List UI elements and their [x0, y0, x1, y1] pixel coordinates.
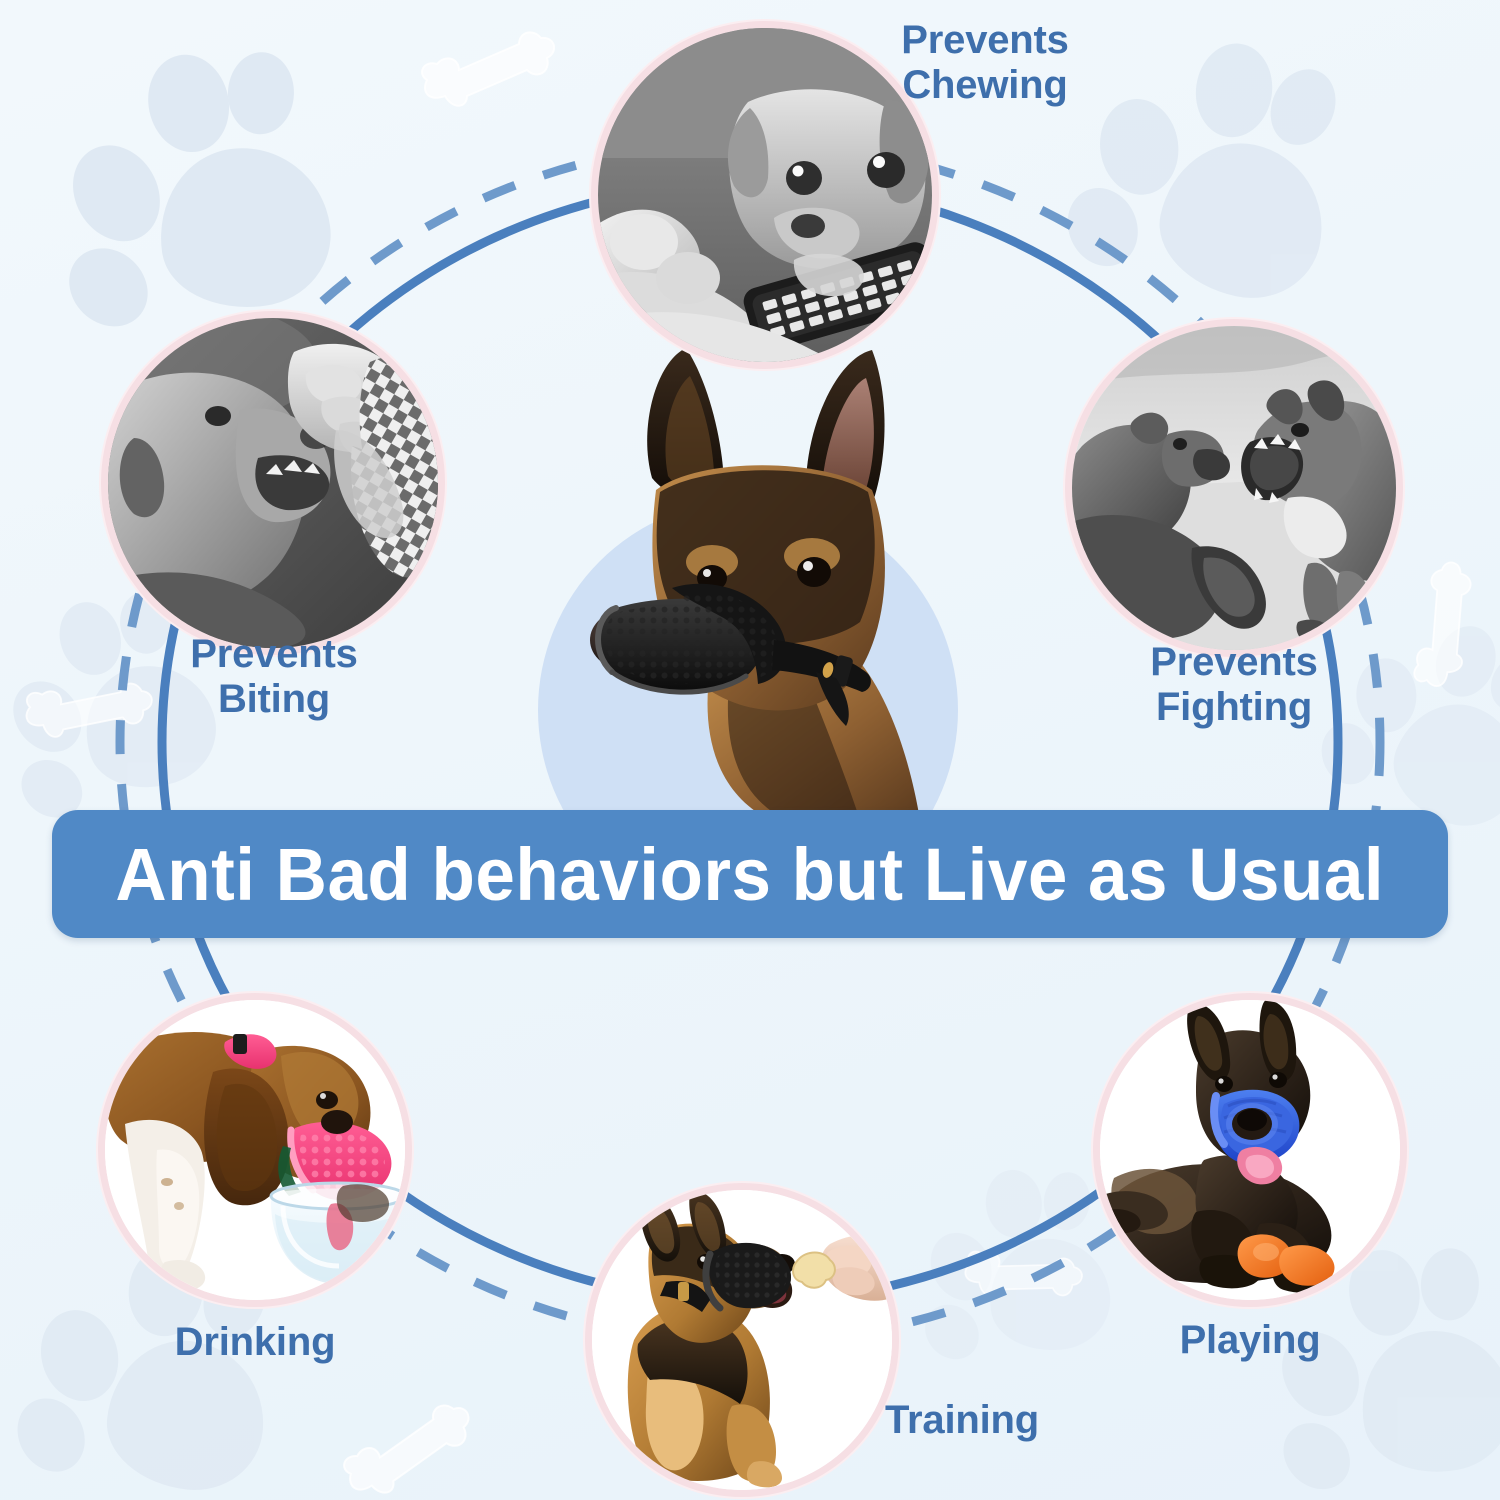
feature-label-drinking: Drinking [105, 1320, 405, 1365]
feature-photo-biting[interactable] [108, 318, 438, 648]
feature-label-biting: Prevents Biting [128, 632, 420, 722]
malinois-playing-with-blue-muzzle-photo [1100, 1000, 1400, 1300]
beagle-drinking-with-pink-muzzle-photo [105, 1000, 405, 1300]
german-shepherd-training-treat-photo [592, 1190, 892, 1490]
hero-dog-photo [560, 340, 960, 820]
feature-label-drinking-text: Drinking [105, 1320, 405, 1365]
headline-banner-text: Anti Bad behaviors but Live as Usual [116, 832, 1385, 917]
feature-photo-drinking[interactable] [105, 1000, 405, 1300]
feature-photo-playing[interactable] [1100, 1000, 1400, 1300]
feature-label-fighting-line1: Prevents [1088, 640, 1380, 685]
headline-banner: Anti Bad behaviors but Live as Usual [52, 810, 1448, 938]
dog-biting-arm-photo [108, 318, 438, 648]
feature-label-biting-line2: Biting [128, 677, 420, 722]
feature-label-biting-line1: Prevents [128, 632, 420, 677]
feature-label-fighting: Prevents Fighting [1088, 640, 1380, 730]
feature-label-training: Training [812, 1398, 1112, 1443]
feature-label-chewing-line2: Chewing [840, 63, 1130, 108]
feature-photo-fighting[interactable] [1072, 326, 1396, 650]
infographic-canvas: Prevents Chewing [0, 0, 1500, 1500]
feature-label-training-text: Training [812, 1398, 1112, 1443]
two-dogs-fighting-photo [1072, 326, 1396, 650]
feature-label-fighting-line2: Fighting [1088, 685, 1380, 730]
feature-label-playing: Playing [1100, 1318, 1400, 1363]
feature-photo-training[interactable] [592, 1190, 892, 1490]
feature-label-chewing-line1: Prevents [840, 18, 1130, 63]
feature-label-playing-text: Playing [1100, 1318, 1400, 1363]
feature-label-chewing: Prevents Chewing [840, 18, 1130, 108]
